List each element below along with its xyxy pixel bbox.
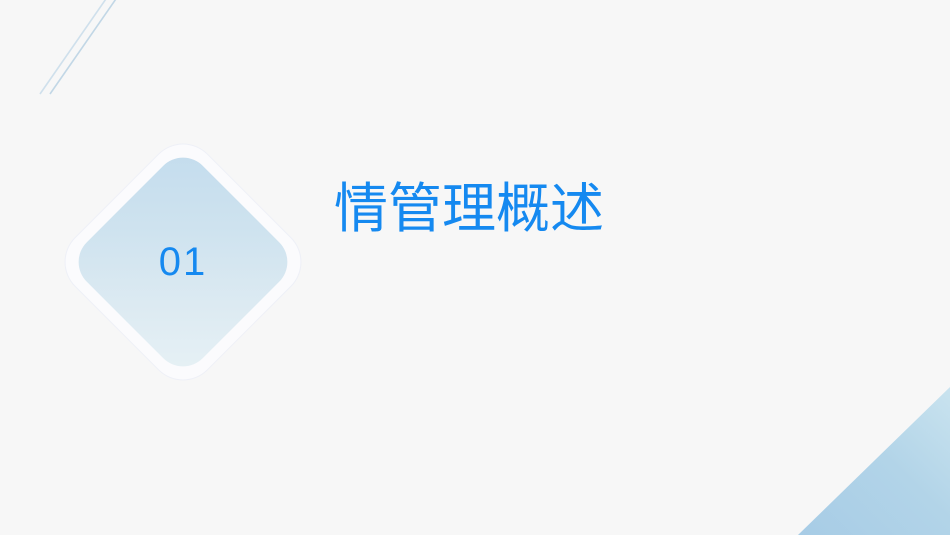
badge-number-label: 01 (50, 129, 316, 395)
section-number-badge: 01 (50, 129, 316, 395)
diagonal-line-outer (50, 0, 118, 94)
presentation-slide: 01 情管理概述 (0, 0, 950, 535)
page-title: 情管理概述 (334, 178, 604, 240)
diagonal-line-inner (40, 0, 108, 94)
triangle-shape (798, 387, 950, 535)
diagonal-stripes-decoration (0, 0, 200, 130)
corner-triangle-decoration (798, 387, 950, 535)
